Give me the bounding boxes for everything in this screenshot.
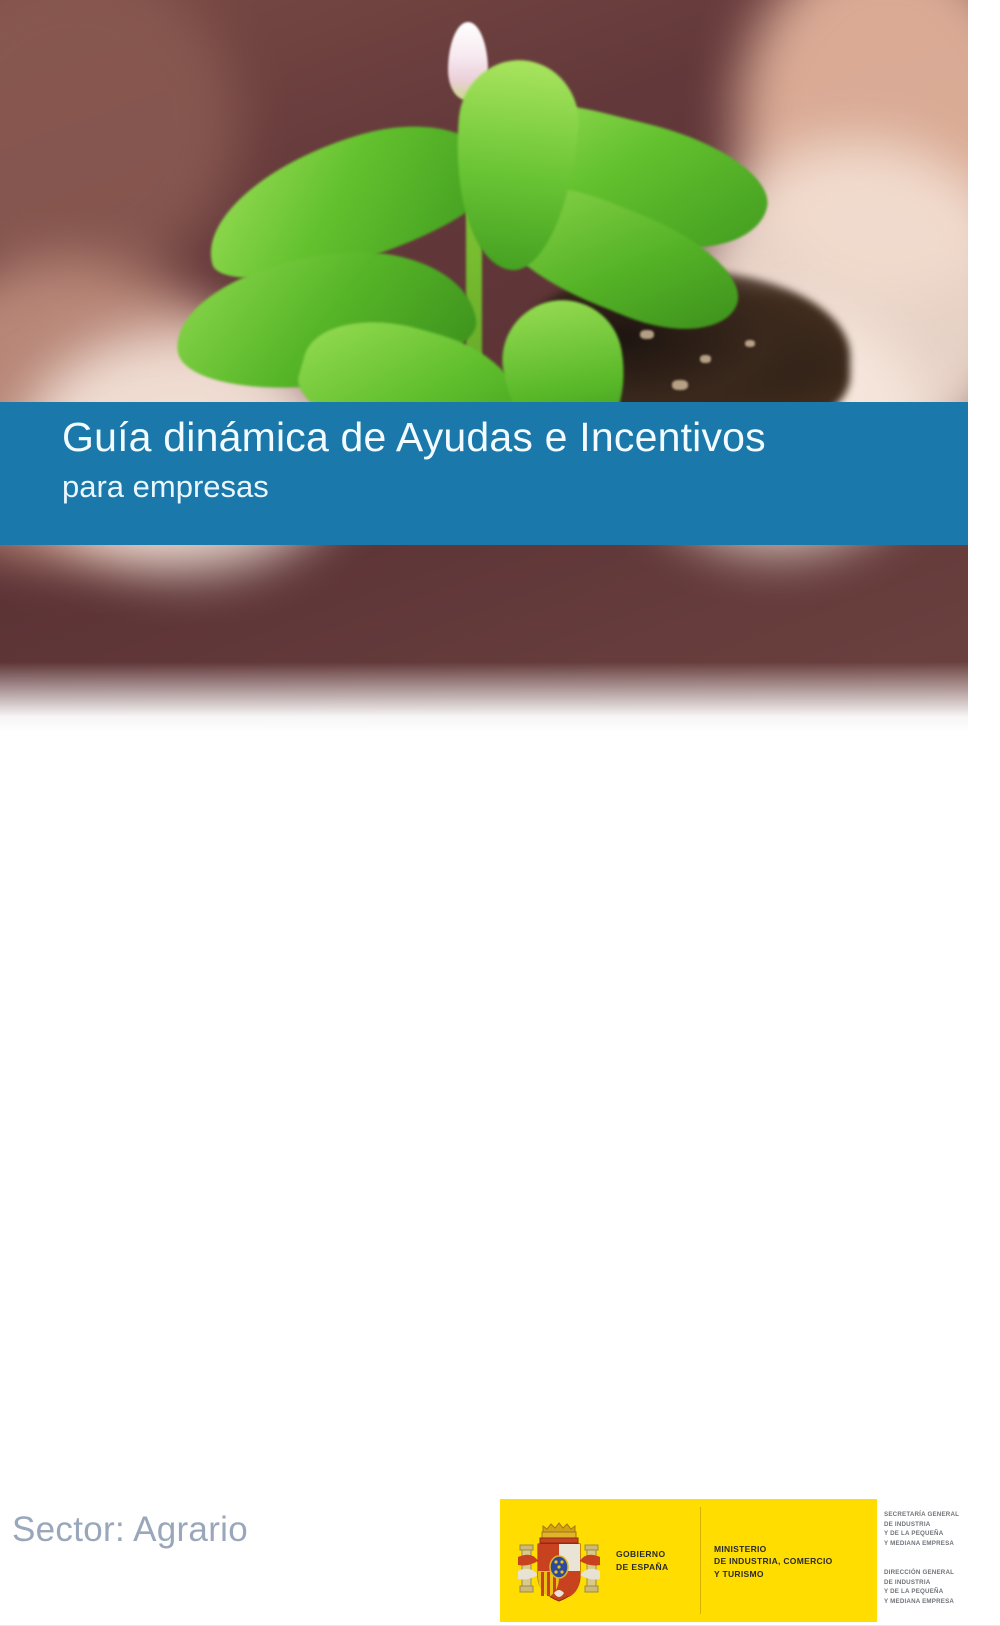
logo-divider <box>700 1507 701 1614</box>
org-unit-secretaria-general: SECRETARÍA GENERAL DE INDUSTRIA Y DE LA … <box>884 1510 959 1548</box>
cover-photo <box>0 0 968 732</box>
org-unit-direccion-general: DIRECCIÓN GENERAL DE INDUSTRIA Y DE LA P… <box>884 1568 954 1606</box>
soil-fleck <box>640 330 654 339</box>
sector-label: Sector: Agrario <box>12 1510 248 1550</box>
title-banner: Guía dinámica de Ayudas e Incentivos par… <box>0 402 968 545</box>
soil-fleck <box>745 340 755 347</box>
footer: Sector: Agrario <box>0 732 1000 898</box>
ministry-label: MINISTERIO DE INDUSTRIA, COMERCIO Y TURI… <box>714 1543 833 1580</box>
soil-fleck <box>700 355 711 363</box>
government-logo: GOBIERNO DE ESPAÑA MINISTERIO DE INDUSTR… <box>500 1499 877 1622</box>
page-title: Guía dinámica de Ayudas e Incentivos <box>62 416 968 459</box>
page-subtitle: para empresas <box>62 471 968 504</box>
soil-fleck <box>672 380 688 390</box>
spanish-coat-of-arms-icon <box>516 1515 602 1607</box>
photo-bottom-fade <box>0 662 968 732</box>
government-label: GOBIERNO DE ESPAÑA <box>616 1548 669 1573</box>
